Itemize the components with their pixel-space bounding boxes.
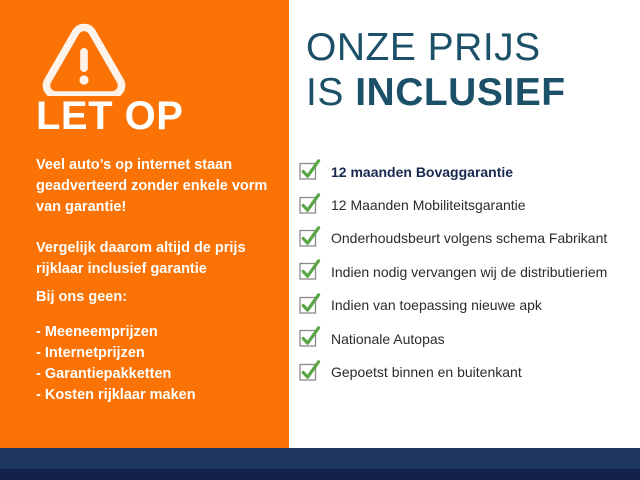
list-item: Indien nodig vervangen wij de distributi…: [299, 255, 640, 288]
feature-label: Indien van toepassing nieuwe apk: [331, 297, 542, 313]
headline-line-1: ONZE PRIJS: [306, 25, 566, 70]
list-item: Indien van toepassing nieuwe apk: [299, 289, 640, 322]
checkbox-check-icon: [299, 226, 321, 248]
warning-paragraph-2: Vergelijk daarom altijd de prijs rijklaa…: [36, 238, 276, 280]
exclusions-heading: Bij ons geen:: [36, 287, 276, 308]
checkbox-check-icon: [299, 326, 321, 348]
checkbox-check-icon: [299, 159, 321, 181]
list-item: - Kosten rijklaar maken: [36, 385, 286, 406]
promo-banner: LET OP Veel auto’s op internet staan gea…: [0, 0, 640, 480]
checkbox-check-icon: [299, 360, 321, 382]
checkbox-check-icon: [299, 259, 321, 281]
checkbox-check-icon: [299, 193, 321, 215]
panel-title: LET OP: [36, 93, 183, 139]
feature-label: Indien nodig vervangen wij de distributi…: [331, 264, 607, 280]
page-title: ONZE PRIJS IS INCLUSIEF: [306, 25, 566, 115]
feature-label: Gepoetst binnen en buitenkant: [331, 364, 522, 380]
list-item: Gepoetst binnen en buitenkant: [299, 355, 640, 388]
list-item: Nationale Autopas: [299, 322, 640, 355]
warning-paragraph-1: Veel auto’s op internet staan geadvertee…: [36, 155, 276, 218]
list-item: - Meeneemprijzen: [36, 322, 286, 343]
headline-line-2: IS INCLUSIEF: [306, 70, 566, 115]
feature-label: 12 Maanden Mobiliteitsgarantie: [331, 197, 526, 213]
checkbox-check-icon: [299, 293, 321, 315]
list-item: 12 maanden Bovaggarantie: [299, 155, 640, 188]
feature-label: Onderhoudsbeurt volgens schema Fabrikant: [331, 230, 607, 246]
included-features-list: 12 maanden Bovaggarantie 12 Maanden Mobi…: [299, 155, 640, 389]
list-item: - Internetprijzen: [36, 343, 286, 364]
headline-line-2-light: IS: [306, 71, 355, 114]
warning-triangle-icon: [41, 22, 127, 96]
inclusive-price-panel: ONZE PRIJS IS INCLUSIEF 12 maanden Bovag…: [289, 0, 640, 448]
list-item: 12 Maanden Mobiliteitsgarantie: [299, 188, 640, 221]
footer-bar: [0, 448, 640, 469]
feature-label: 12 maanden Bovaggarantie: [331, 164, 513, 180]
warning-panel: LET OP Veel auto’s op internet staan gea…: [0, 0, 289, 448]
exclusions-list: - Meeneemprijzen - Internetprijzen - Gar…: [36, 322, 286, 406]
headline-line-2-bold: INCLUSIEF: [355, 71, 565, 114]
list-item: Onderhoudsbeurt volgens schema Fabrikant: [299, 222, 640, 255]
list-item: - Garantiepakketten: [36, 364, 286, 385]
footer-bar-dark: [0, 469, 640, 480]
feature-label: Nationale Autopas: [331, 331, 445, 347]
